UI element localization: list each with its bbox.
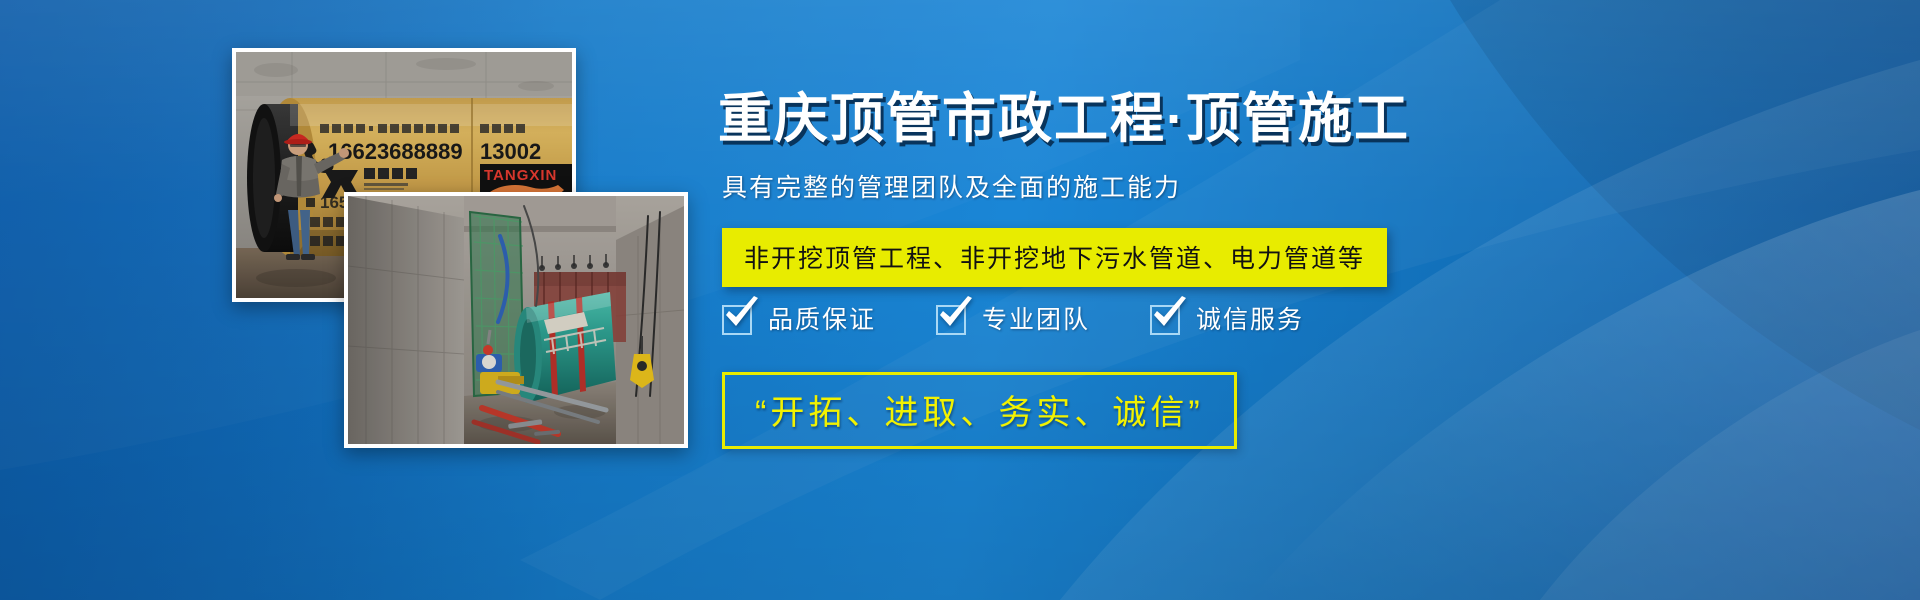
feature-label-quality: 品质保证	[768, 300, 876, 336]
check-icon	[936, 301, 970, 335]
promo-banner: 16623688889 13002 TANGXIN	[0, 0, 1920, 600]
feature-label-team: 专业团队	[982, 300, 1090, 336]
check-icon	[1150, 301, 1184, 335]
banner-content: 重庆顶管市政工程·顶管施工 具有完整的管理团队及全面的施工能力 非开挖顶管工程、…	[718, 0, 1818, 600]
slogan-text: “开拓、进取、务实、诚信”	[755, 394, 1204, 432]
banner-title: 重庆顶管市政工程·顶管施工	[718, 92, 1410, 146]
trench-construction-photo[interactable]	[344, 192, 688, 448]
banner-subtitle: 具有完整的管理团队及全面的施工能力	[722, 168, 1181, 204]
feature-list: 品质保证 专业团队 诚信服务	[722, 300, 1304, 336]
feature-item-team: 专业团队	[936, 300, 1090, 336]
check-icon	[722, 301, 756, 335]
feature-label-service: 诚信服务	[1196, 300, 1304, 336]
photo-2-graphic	[348, 196, 684, 444]
services-tag-bar: 非开挖顶管工程、非开挖地下污水管道、电力管道等	[722, 228, 1387, 287]
feature-item-service: 诚信服务	[1150, 300, 1304, 336]
feature-item-quality: 品质保证	[722, 300, 876, 336]
photo-collage: 16623688889 13002 TANGXIN	[0, 0, 700, 600]
slogan-box: “开拓、进取、务实、诚信”	[722, 372, 1237, 449]
